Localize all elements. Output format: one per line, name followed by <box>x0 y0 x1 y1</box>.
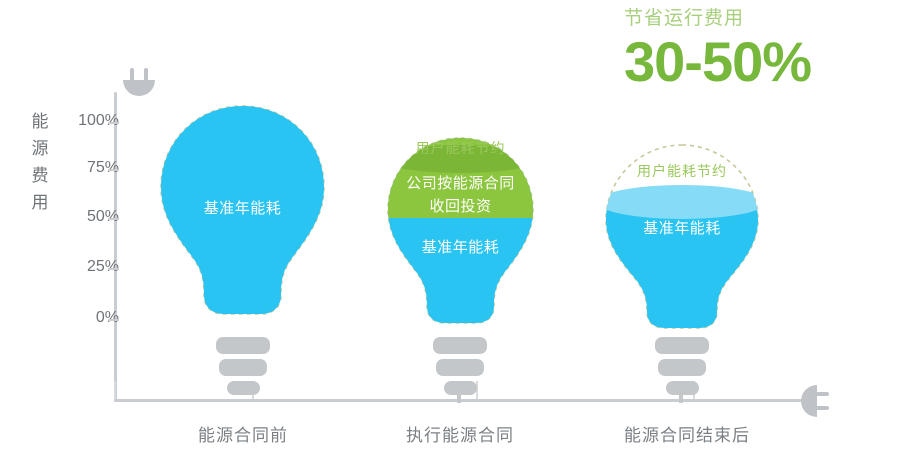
y-tick-mark <box>108 268 119 270</box>
bulb-base-ring <box>436 359 484 376</box>
y-tick-label: 75% <box>63 159 119 177</box>
bulb-base-ring <box>433 337 487 354</box>
x-axis-label-stage-2: 执行能源合同 <box>380 421 540 446</box>
y-tick-100: 100% <box>0 122 119 124</box>
y-tick-0: 0% <box>0 319 119 321</box>
x-tick-mark <box>114 381 116 399</box>
plug-icon <box>795 381 829 426</box>
y-tick-mark <box>108 319 119 321</box>
y-tick-25: 25% <box>0 268 119 270</box>
y-tick-label: 50% <box>63 208 119 226</box>
y-tick-mark <box>108 122 119 124</box>
y-axis-title-char: 用 <box>28 189 52 216</box>
bulb-liquid-surface <box>597 185 767 219</box>
plug-icon <box>119 68 159 107</box>
bulb-base-tip <box>227 381 260 395</box>
infographic-canvas: 节省运行费用 30-50% 能 源 费 用 100% 75% 50% <box>0 0 900 473</box>
bulb-base-ring <box>216 337 270 354</box>
bulb-stem <box>457 393 461 403</box>
headline-value: 30-50% <box>624 34 884 90</box>
headline-block: 节省运行费用 30-50% <box>624 6 884 90</box>
y-tick-mark <box>108 218 119 220</box>
bulb-fill-cyan <box>155 100 330 335</box>
y-tick-label: 25% <box>63 258 119 276</box>
bulb-saving-label: 用户能耗节约 <box>383 139 538 157</box>
bulb-base-ring <box>658 359 706 376</box>
bulb-stage-2: 公司按能源合同 收回投资 基准年能耗 用户能耗节约 <box>383 133 538 335</box>
bulb-stage-1: 基准年能耗 <box>155 100 330 335</box>
y-axis-title-char: 费 <box>28 162 52 189</box>
x-axis-label-stage-3: 能源合同结束后 <box>602 421 772 446</box>
y-axis-title: 能 源 费 用 <box>28 108 52 216</box>
y-tick-label: 0% <box>63 309 119 327</box>
bulb-stage-3: 基准年能耗 用户能耗节约 <box>601 140 763 336</box>
y-axis-line <box>114 92 117 402</box>
bulb-stem <box>679 393 683 403</box>
y-tick-label: 100% <box>63 112 119 130</box>
bulb-saving-label: 用户能耗节约 <box>601 162 763 180</box>
y-tick-50: 50% <box>0 218 119 220</box>
y-tick-mark <box>108 169 119 171</box>
bulb-fill-cyan <box>601 202 763 336</box>
y-axis-title-char: 源 <box>28 135 52 162</box>
y-tick-75: 75% <box>0 169 119 171</box>
x-axis-label-stage-1: 能源合同前 <box>163 421 323 446</box>
bulb-base-ring <box>655 337 709 354</box>
bulb-base-ring <box>219 359 267 376</box>
headline-subtitle: 节省运行费用 <box>624 6 884 32</box>
